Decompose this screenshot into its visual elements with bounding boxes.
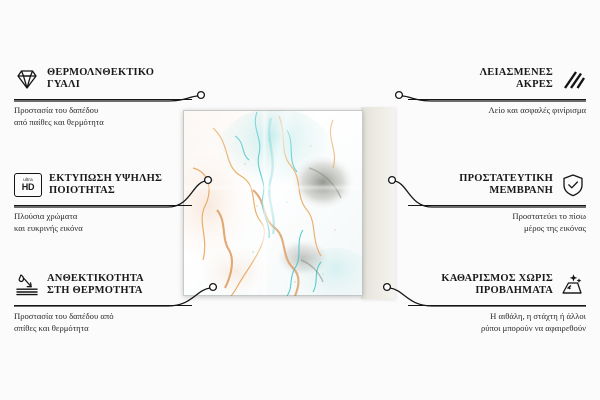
diamond-icon: [14, 66, 40, 92]
feature-divider: [408, 305, 586, 306]
product-side-edge: [361, 107, 395, 299]
feature-description: Πλούσια χρώματα και ευκρινής εικόνα: [14, 211, 192, 234]
feature-description: Προστατεύει το πίσω μέρος της εικόνας: [408, 211, 586, 234]
leader-dot-right-1: [396, 92, 403, 99]
feature-polished-edges: ΛΕΙΑΣΜΕΝΕΣ ΑΚΡΕΣ Λείο και ασφαλές φινίρι…: [408, 62, 586, 117]
feature-header: ΚΑΘΑΡΙΣΜΟΣ ΧΩΡΙΣ ΠΡΟΒΛΗΜΑΤΑ: [408, 268, 586, 302]
feature-title: ΘΕΡΜΟΛΝΘΕΚΤΙΚΟ ΓΥΑΛΙ: [47, 67, 154, 92]
feature-divider: [408, 99, 586, 100]
feature-description: Λείο και ασφαλές φινίρισμα: [408, 105, 586, 117]
product-image: [183, 110, 395, 302]
feature-divider: [408, 205, 586, 206]
leader-dot-left-1: [198, 92, 205, 99]
feature-title: ΚΑΘΑΡΙΣΜΟΣ ΧΩΡΙΣ ΠΡΟΒΛΗΜΑΤΑ: [441, 273, 553, 298]
polished-edges-icon: [560, 66, 586, 92]
feature-divider: [14, 305, 192, 306]
feature-high-quality-print: ultra HD ΕΚΤΥΠΩΣΗ ΥΨΗΛΗΣ ΠΟΙΟΤΗΤΑΣ Πλούσ…: [14, 168, 192, 234]
shield-check-icon: [560, 172, 586, 198]
feature-heat-resistant-glass: ΘΕΡΜΟΛΝΘΕΚΤΙΚΟ ΓΥΑΛΙ Προστασία του δαπέδ…: [14, 62, 192, 128]
feature-header: ultra HD ΕΚΤΥΠΩΣΗ ΥΨΗΛΗΣ ΠΟΙΟΤΗΤΑΣ: [14, 168, 192, 202]
feature-description: Προστασία του δαπέδου από παίθες και θερ…: [14, 105, 192, 128]
feature-description: Η αιθάλη, η στάχτη ή άλλοι ρύποι μπορούν…: [408, 311, 586, 334]
product-border: [183, 110, 363, 296]
feature-description: Προστασία του δαπέδου από σπίθες και θερ…: [14, 311, 192, 334]
feature-easy-cleaning: ΚΑΘΑΡΙΣΜΟΣ ΧΩΡΙΣ ΠΡΟΒΛΗΜΑΤΑ Η αιθάλη, η …: [408, 268, 586, 334]
feature-title: ΕΚΤΥΠΩΣΗ ΥΨΗΛΗΣ ΠΟΙΟΤΗΤΑΣ: [49, 173, 162, 198]
feature-heat-durability: ΑΝΘΕΚΤΙΚΟΤΗΤΑ ΣΤΗ ΘΕΡΜΟΤΗΤΑ Προστασία το…: [14, 268, 192, 334]
easy-clean-icon: [560, 272, 586, 298]
feature-divider: [14, 205, 192, 206]
feature-header: ΘΕΡΜΟΛΝΘΕΚΤΙΚΟ ΓΥΑΛΙ: [14, 62, 192, 96]
feature-title: ΑΝΘΕΚΤΙΚΟΤΗΤΑ ΣΤΗ ΘΕΡΜΟΤΗΤΑ: [47, 273, 144, 298]
feature-header: ΑΝΘΕΚΤΙΚΟΤΗΤΑ ΣΤΗ ΘΕΡΜΟΤΗΤΑ: [14, 268, 192, 302]
heat-resistance-icon: [14, 272, 40, 298]
feature-title: ΠΡΟΣΤΑΤΕΥΤΙΚΗ ΜΕΜΒΡΑΝΗ: [459, 173, 553, 198]
ultra-hd-icon: ultra HD: [14, 173, 42, 197]
infographic-canvas: ΘΕΡΜΟΛΝΘΕΚΤΙΚΟ ΓΥΑΛΙ Προστασία του δαπέδ…: [0, 0, 600, 400]
feature-divider: [14, 99, 192, 100]
product-front-face: [183, 110, 363, 296]
feature-header: ΠΡΟΣΤΑΤΕΥΤΙΚΗ ΜΕΜΒΡΑΝΗ: [408, 168, 586, 202]
feature-protective-membrane: ΠΡΟΣΤΑΤΕΥΤΙΚΗ ΜΕΜΒΡΑΝΗ Προστατεύει το πί…: [408, 168, 586, 234]
feature-title: ΛΕΙΑΣΜΕΝΕΣ ΑΚΡΕΣ: [480, 67, 553, 92]
feature-header: ΛΕΙΑΣΜΕΝΕΣ ΑΚΡΕΣ: [408, 62, 586, 96]
